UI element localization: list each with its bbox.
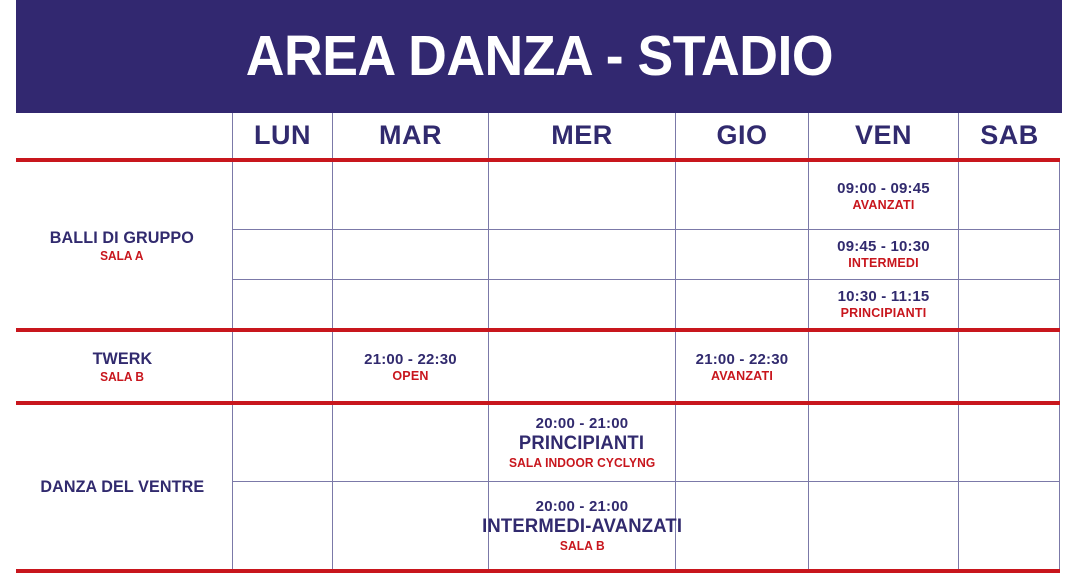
section-body: 21:00 - 22:30 OPEN 21:00 - 22:30 AVANZAT… xyxy=(232,332,1060,401)
class-level: PRINCIPIANTI xyxy=(519,433,644,455)
class-room: SALA INDOOR CYCLYNG xyxy=(509,456,655,470)
day-label: MAR xyxy=(379,120,442,151)
table-row: 20:00 - 21:00 PRINCIPIANTI SALA INDOOR C… xyxy=(232,405,1060,481)
class-time: 21:00 - 22:30 xyxy=(696,351,789,368)
day-header-row: LUN MAR MER GIO VEN SAB xyxy=(16,113,1060,158)
cell-ven xyxy=(808,405,958,481)
day-label: VEN xyxy=(855,120,912,151)
section-name: TWERK xyxy=(92,349,152,369)
cell-mar xyxy=(332,482,488,569)
cell-sab xyxy=(958,280,1060,328)
cell-ven: 10:30 - 11:15 PRINCIPIANTI xyxy=(808,280,958,328)
class-time: 20:00 - 21:00 xyxy=(536,415,629,432)
cell-mar: 21:00 - 22:30 OPEN xyxy=(332,332,488,401)
day-label: MER xyxy=(551,120,613,151)
table-row: 20:00 - 21:00 INTERMEDI-AVANZATI SALA B xyxy=(232,481,1060,569)
day-label: SAB xyxy=(980,120,1039,151)
schedule-table: LUN MAR MER GIO VEN SAB BALLI DI GRUPPO … xyxy=(16,113,1062,571)
cell-gio xyxy=(675,405,808,481)
table-row: 09:00 - 09:45 AVANZATI xyxy=(232,162,1060,229)
cell-sab xyxy=(958,405,1060,481)
class-level: AVANZATI xyxy=(711,369,773,383)
schedule-poster: AREA DANZA - STADIO LUN MAR MER GIO VEN … xyxy=(0,0,1080,582)
day-header-sab: SAB xyxy=(958,113,1060,158)
cell-mar xyxy=(332,280,488,328)
cell-mar xyxy=(332,405,488,481)
table-row: 09:45 - 10:30 INTERMEDI xyxy=(232,229,1060,278)
section-label: TWERK SALA B xyxy=(16,332,232,401)
class-level: OPEN xyxy=(392,369,428,383)
section-room: SALA B xyxy=(100,370,144,384)
class-time: 10:30 - 11:15 xyxy=(838,288,930,305)
day-header-mar: MAR xyxy=(332,113,488,158)
cell-lun xyxy=(232,405,332,481)
cell-lun xyxy=(232,162,332,229)
poster-banner: AREA DANZA - STADIO xyxy=(16,0,1062,113)
cell-gio xyxy=(675,162,808,229)
cell-mar xyxy=(332,162,488,229)
class-level: INTERMEDI xyxy=(848,256,919,270)
cell-gio xyxy=(675,482,808,569)
section-room: SALA A xyxy=(100,249,143,263)
section-name: DANZA DEL VENTRE xyxy=(40,477,204,497)
day-label: LUN xyxy=(254,120,311,151)
cell-sab xyxy=(958,332,1060,401)
class-time: 09:00 - 09:45 xyxy=(837,180,930,197)
section-body: 09:00 - 09:45 AVANZATI 09:45 - 10:30 INT… xyxy=(232,162,1060,328)
class-time: 21:00 - 22:30 xyxy=(364,351,457,368)
page-title: AREA DANZA - STADIO xyxy=(245,28,832,85)
corner-cell xyxy=(16,113,232,158)
cell-mer: 20:00 - 21:00 INTERMEDI-AVANZATI SALA B xyxy=(488,482,675,569)
cell-lun xyxy=(232,482,332,569)
day-header-ven: VEN xyxy=(808,113,958,158)
cell-sab xyxy=(958,482,1060,569)
day-header-mer: MER xyxy=(488,113,675,158)
cell-gio xyxy=(675,230,808,278)
class-time: 09:45 - 10:30 xyxy=(837,238,930,255)
cell-mar xyxy=(332,230,488,278)
day-header-lun: LUN xyxy=(232,113,332,158)
cell-mer xyxy=(488,162,675,229)
cell-mer xyxy=(488,280,675,328)
cell-lun xyxy=(232,280,332,328)
class-time: 20:00 - 21:00 xyxy=(536,498,629,515)
cell-ven: 09:00 - 09:45 AVANZATI xyxy=(808,162,958,229)
cell-ven: 09:45 - 10:30 INTERMEDI xyxy=(808,230,958,278)
cell-mer xyxy=(488,332,675,401)
section-label: DANZA DEL VENTRE xyxy=(16,405,232,569)
class-level: PRINCIPIANTI xyxy=(841,306,927,320)
cell-ven xyxy=(808,332,958,401)
section-divider-bottom xyxy=(16,569,1060,573)
class-room: SALA B xyxy=(560,539,605,553)
cell-lun xyxy=(232,332,332,401)
cell-ven xyxy=(808,482,958,569)
section-balli-di-gruppo: BALLI DI GRUPPO SALA A 09:00 - 09:45 AVA… xyxy=(16,162,1060,328)
cell-gio: 21:00 - 22:30 AVANZATI xyxy=(675,332,808,401)
section-name: BALLI DI GRUPPO xyxy=(50,228,194,248)
table-row: 10:30 - 11:15 PRINCIPIANTI xyxy=(232,279,1060,328)
cell-mer: 20:00 - 21:00 PRINCIPIANTI SALA INDOOR C… xyxy=(488,405,675,481)
class-level: AVANZATI xyxy=(852,198,914,212)
section-danza-del-ventre: DANZA DEL VENTRE 20:00 - 21:00 PRINCIPIA… xyxy=(16,405,1060,569)
cell-lun xyxy=(232,230,332,278)
table-row: 21:00 - 22:30 OPEN 21:00 - 22:30 AVANZAT… xyxy=(232,332,1060,401)
day-label: GIO xyxy=(716,120,767,151)
day-header-gio: GIO xyxy=(675,113,808,158)
cell-sab xyxy=(958,162,1060,229)
section-label: BALLI DI GRUPPO SALA A xyxy=(16,162,232,328)
section-body: 20:00 - 21:00 PRINCIPIANTI SALA INDOOR C… xyxy=(232,405,1060,569)
section-twerk: TWERK SALA B 21:00 - 22:30 OPEN 21:00 - … xyxy=(16,332,1060,401)
cell-sab xyxy=(958,230,1060,278)
cell-mer xyxy=(488,230,675,278)
class-level: INTERMEDI-AVANZATI xyxy=(482,516,682,538)
cell-gio xyxy=(675,280,808,328)
